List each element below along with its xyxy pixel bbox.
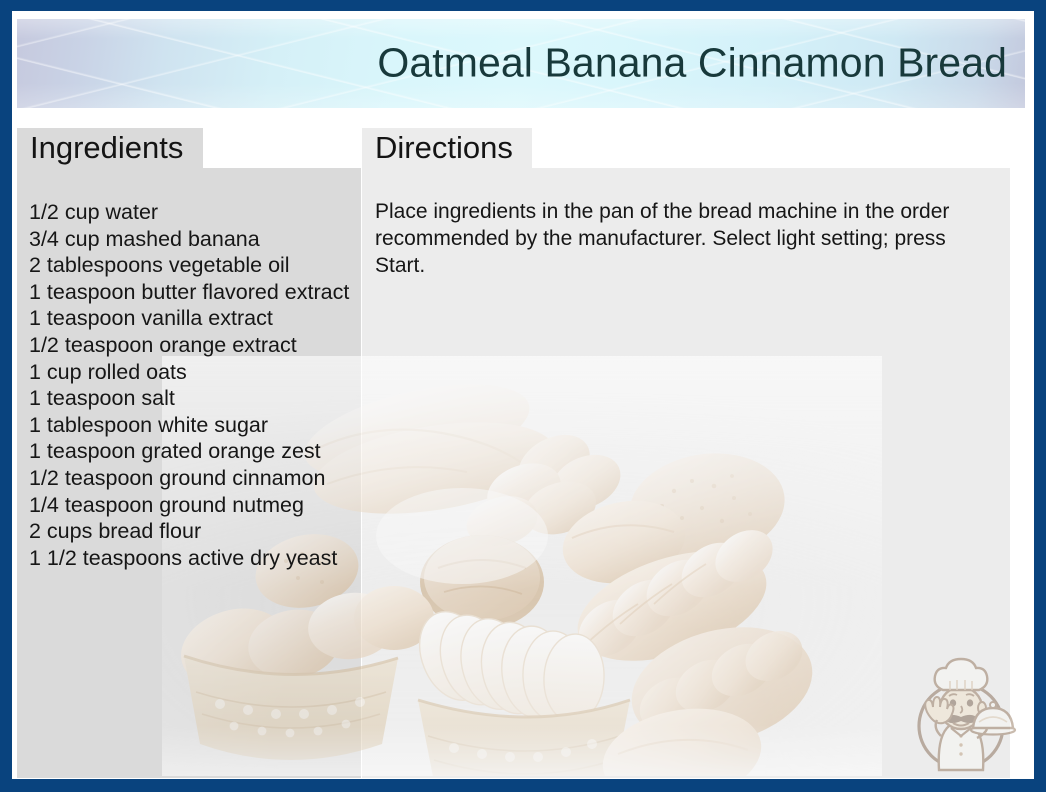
tab-directions[interactable]: Directions [362, 128, 532, 168]
list-item: 1 teaspoon butter flavored extract [29, 279, 369, 306]
recipe-card: Oatmeal Banana Cinnamon Bread [0, 0, 1046, 792]
list-item: 2 tablespoons vegetable oil [29, 252, 369, 279]
list-item: 3/4 cup mashed banana [29, 226, 369, 253]
list-item: 1 cup rolled oats [29, 359, 369, 386]
list-item: 1 teaspoon grated orange zest [29, 438, 369, 465]
list-item: 1 teaspoon vanilla extract [29, 305, 369, 332]
tab-directions-label: Directions [375, 130, 513, 165]
tab-ingredients-label: Ingredients [30, 130, 183, 165]
list-item: 1/2 cup water [29, 199, 369, 226]
list-item: 1/4 teaspoon ground nutmeg [29, 492, 369, 519]
tab-ingredients[interactable]: Ingredients [17, 128, 203, 168]
list-item: 1 teaspoon salt [29, 385, 369, 412]
list-item: 1 tablespoon white sugar [29, 412, 369, 439]
page-title: Oatmeal Banana Cinnamon Bread [377, 41, 1007, 84]
directions-text: Place ingredients in the pan of the brea… [375, 198, 995, 279]
list-item: 1/2 teaspoon ground cinnamon [29, 465, 369, 492]
ingredients-list: 1/2 cup water 3/4 cup mashed banana 2 ta… [29, 199, 369, 571]
recipe-page: Oatmeal Banana Cinnamon Bread [12, 11, 1034, 779]
title-banner: Oatmeal Banana Cinnamon Bread [17, 19, 1025, 108]
list-item: 2 cups bread flour [29, 518, 369, 545]
list-item: 1 1/2 teaspoons active dry yeast [29, 545, 369, 572]
list-item: 1/2 teaspoon orange extract [29, 332, 369, 359]
